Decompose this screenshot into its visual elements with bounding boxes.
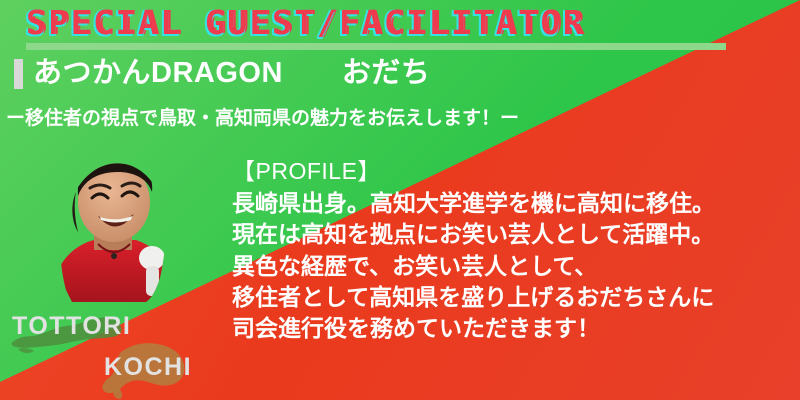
- title-underline-rule: [26, 43, 726, 50]
- profile-block: 【PROFILE】 長崎県出身。高知大学進学を機に高知に移住。 現在は高知を拠点…: [232, 152, 792, 344]
- guest-name: あつかんDRAGON おだち: [33, 58, 430, 90]
- profile-line: 異色な経歴で、お笑い芸人として、: [232, 251, 792, 282]
- prefecture-label-kochi: KOCHI: [104, 353, 192, 382]
- guest-name-row: あつかんDRAGON おだち: [14, 58, 430, 90]
- profile-line: 現在は高知を拠点にお笑い芸人として活躍中。: [232, 219, 792, 250]
- speaker-photo: [36, 140, 186, 305]
- banner-subtitle: ー移住者の視点で鳥取・高知両県の魅力をお伝えします！ー: [6, 103, 519, 130]
- header-title-block: SPECIAL GUEST/FACILITATOR: [26, 6, 766, 50]
- profile-line: 移住者として高知県を盛り上げるおだちさんに: [232, 282, 792, 313]
- prefecture-kochi: KOCHI: [90, 337, 215, 399]
- profile-heading: 【PROFILE】: [232, 152, 792, 186]
- profile-line: 長崎県出身。高知大学進学を機に高知に移住。: [232, 188, 792, 219]
- slide-canvas: SPECIAL GUEST/FACILITATOR あつかんDRAGON おだち…: [0, 0, 800, 400]
- name-bullet-marker: [14, 59, 23, 89]
- page-title: SPECIAL GUEST/FACILITATOR: [26, 6, 766, 41]
- profile-line: 司会進行役を務めていただきます！: [232, 313, 792, 344]
